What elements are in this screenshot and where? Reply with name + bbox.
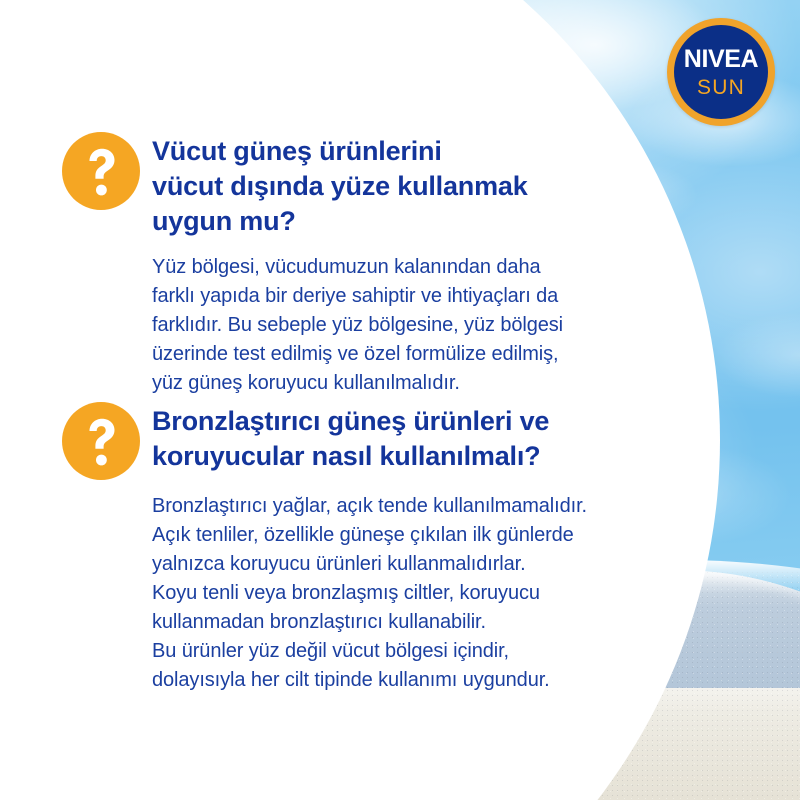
nivea-sun-faq-poster: NIVEA SUN Vücut güneş ürünlerini vücut d…: [0, 0, 800, 800]
faq-question-text: Bronzlaştırıcı güneş ürünleri ve koruyuc…: [152, 402, 549, 474]
faq-item: Vücut güneş ürünlerini vücut dışında yüz…: [62, 132, 622, 398]
question-mark-icon: [62, 132, 140, 210]
faq-answer-text: Yüz bölgesi, vücudumuzun kalanından daha…: [152, 253, 622, 398]
faq-content: Vücut güneş ürünlerini vücut dışında yüz…: [0, 0, 800, 800]
faq-question-text: Vücut güneş ürünlerini vücut dışında yüz…: [152, 132, 528, 239]
question-mark-icon: [62, 402, 140, 480]
faq-question-row: Vücut güneş ürünlerini vücut dışında yüz…: [62, 132, 622, 239]
faq-answer-text: Bronzlaştırıcı yağlar, açık tende kullan…: [152, 492, 622, 695]
faq-question-row: Bronzlaştırıcı güneş ürünleri ve koruyuc…: [62, 402, 622, 480]
faq-item: Bronzlaştırıcı güneş ürünleri ve koruyuc…: [62, 402, 622, 695]
